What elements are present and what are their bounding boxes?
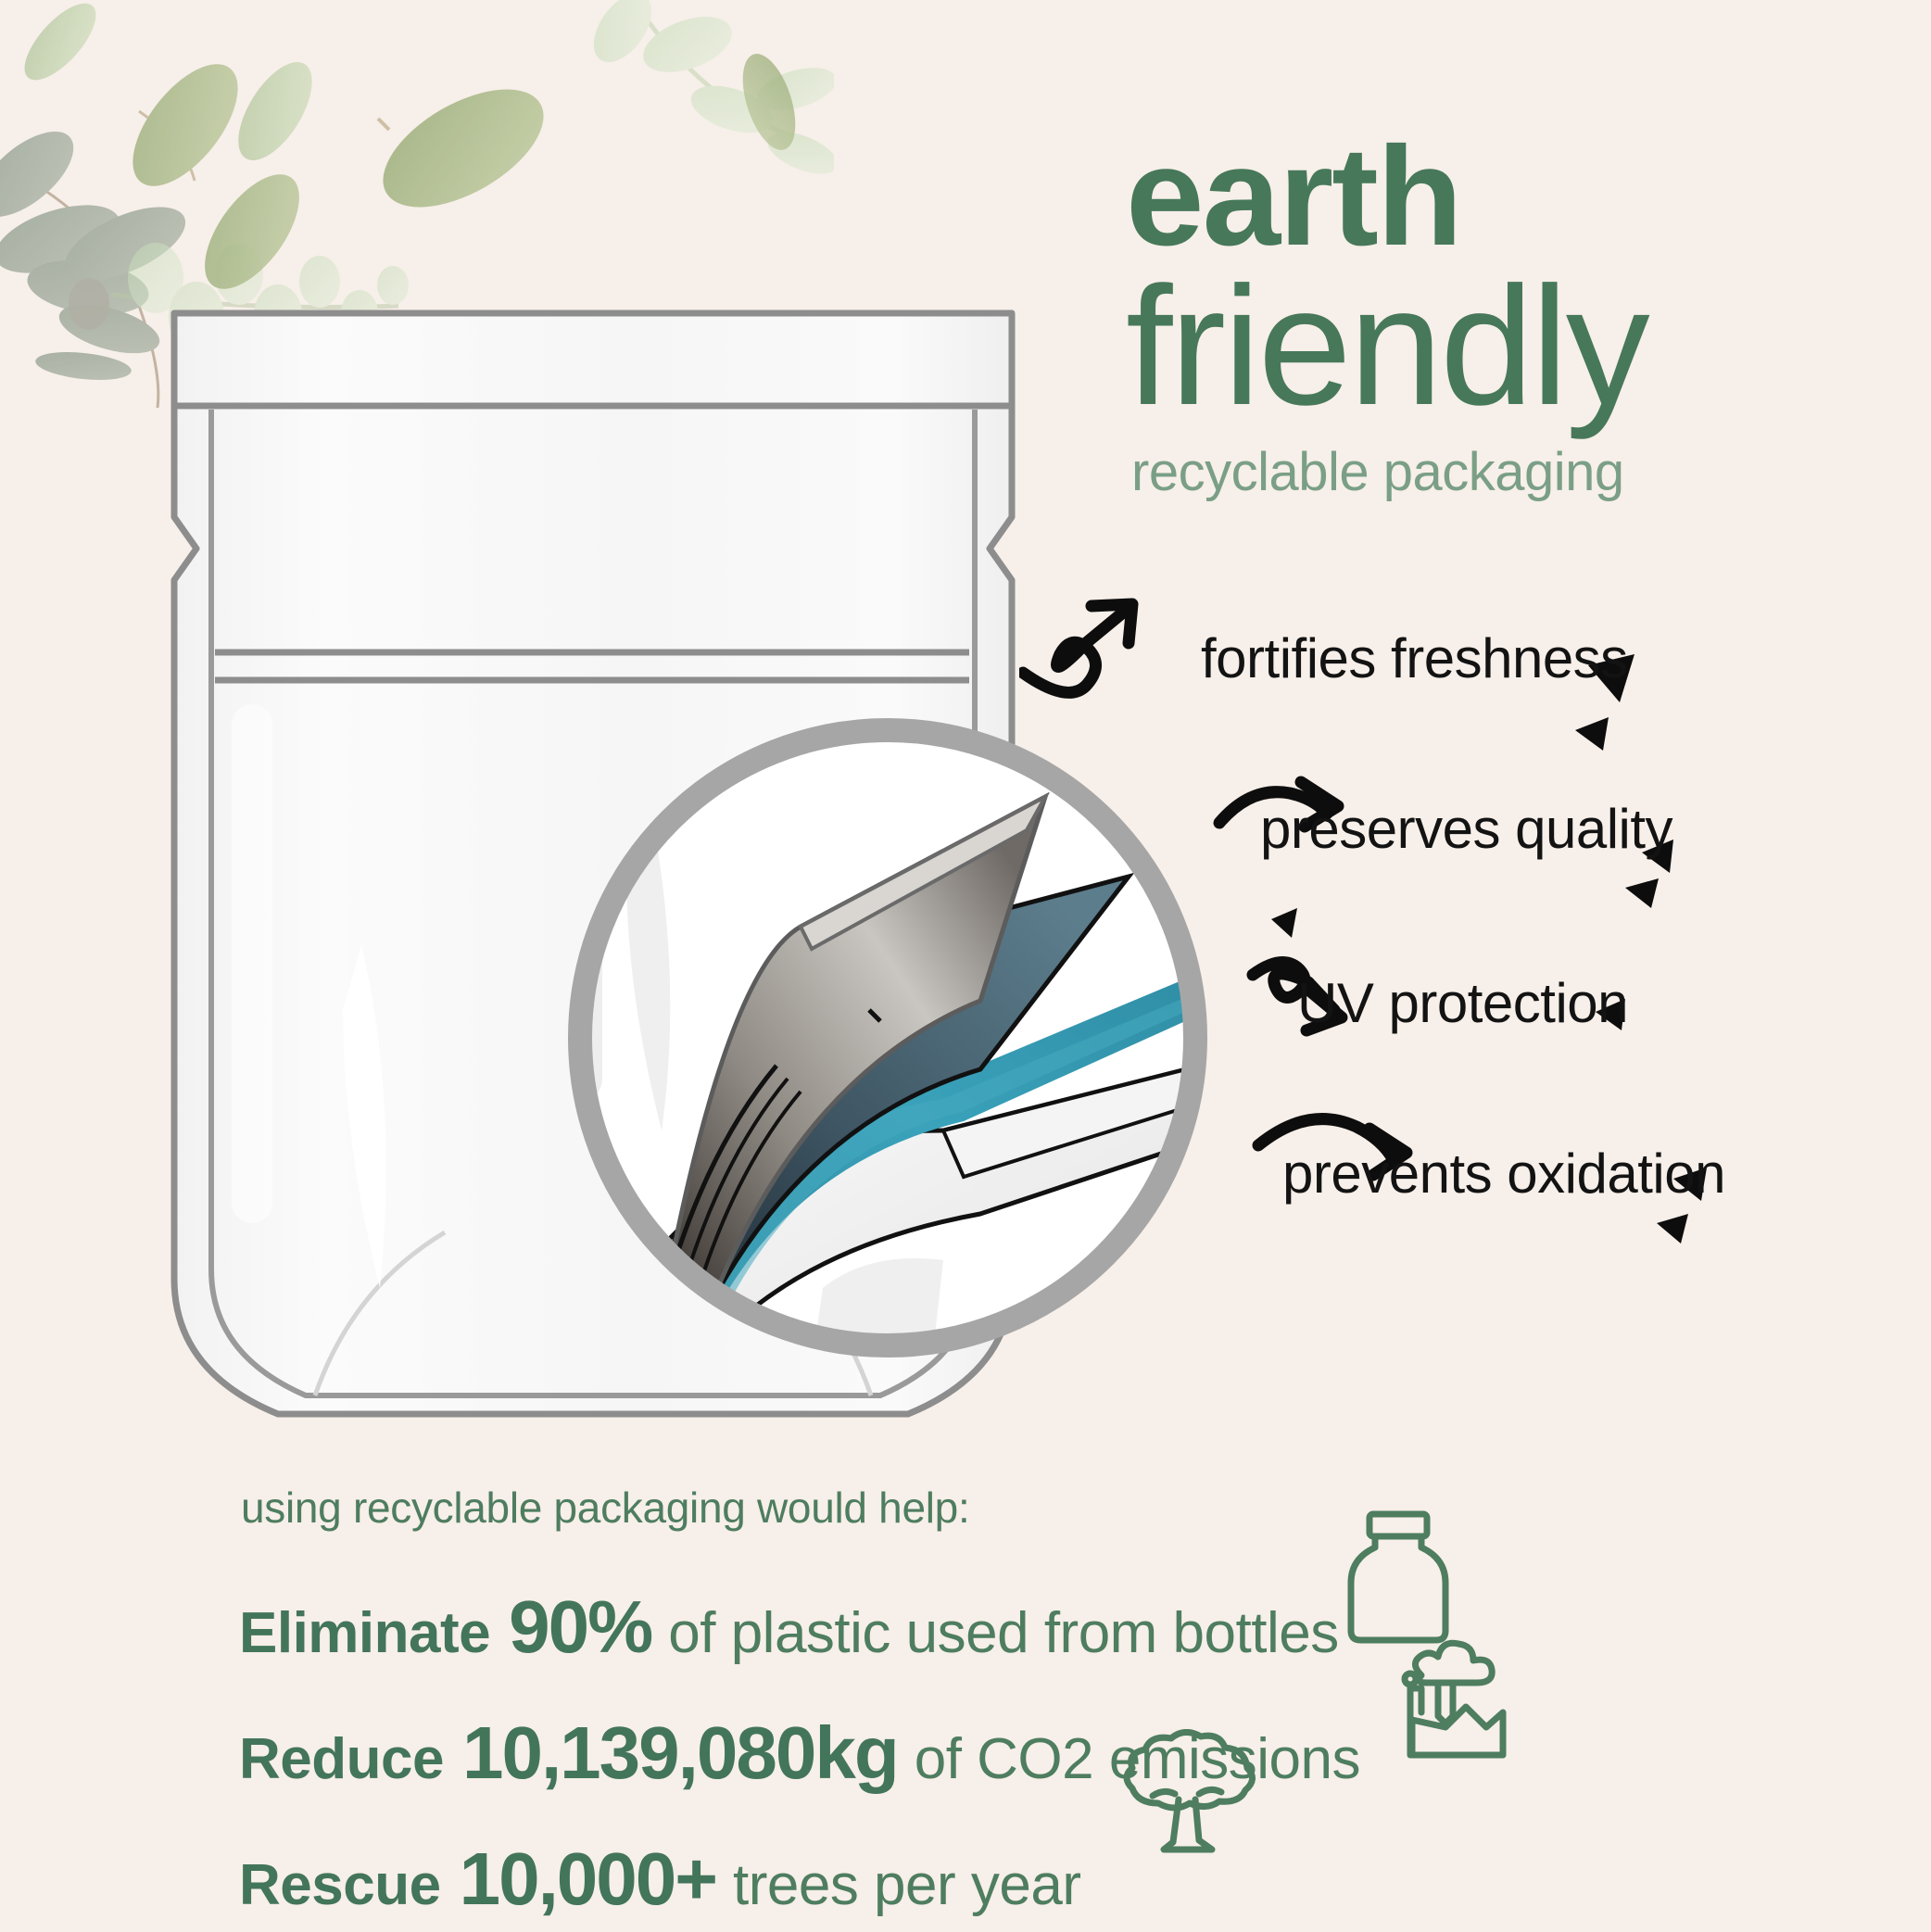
stat-verb: Eliminate bbox=[239, 1600, 490, 1666]
infographic-canvas: earth friendly recyclable packaging fort… bbox=[0, 0, 1931, 1932]
feature-label-preserves-quality: preserves quality bbox=[1260, 797, 1672, 861]
headline-line-1: earth bbox=[1126, 130, 1904, 263]
stat-value: 10,139,080kg bbox=[462, 1711, 898, 1796]
stat-tail: of plastic used from bottles bbox=[668, 1600, 1338, 1666]
tree-icon bbox=[1110, 1729, 1268, 1868]
feature-label-uv-protection: UV protection bbox=[1297, 971, 1628, 1035]
headline-subtitle: recyclable packaging bbox=[1131, 441, 1904, 503]
feature-label-fortifies-freshness: fortifies freshness bbox=[1201, 626, 1628, 690]
factory-icon bbox=[1373, 1627, 1521, 1775]
stat-tail: trees per year bbox=[733, 1852, 1081, 1918]
stat-value: 10,000+ bbox=[460, 1837, 716, 1922]
magnifier-cross-section bbox=[545, 695, 1231, 1381]
feature-label-prevents-oxidation: prevents oxidation bbox=[1282, 1142, 1725, 1206]
headline-line-2: friendly bbox=[1126, 269, 1904, 423]
headline-block: earth friendly recyclable packaging bbox=[1126, 130, 1904, 503]
stat-value: 90% bbox=[509, 1585, 651, 1670]
stat-verb: Reduce bbox=[239, 1726, 444, 1792]
stat-verb: Rescue bbox=[239, 1852, 441, 1918]
stat-row-rescue: Rescue 10,000+ trees per year bbox=[239, 1837, 1629, 1922]
